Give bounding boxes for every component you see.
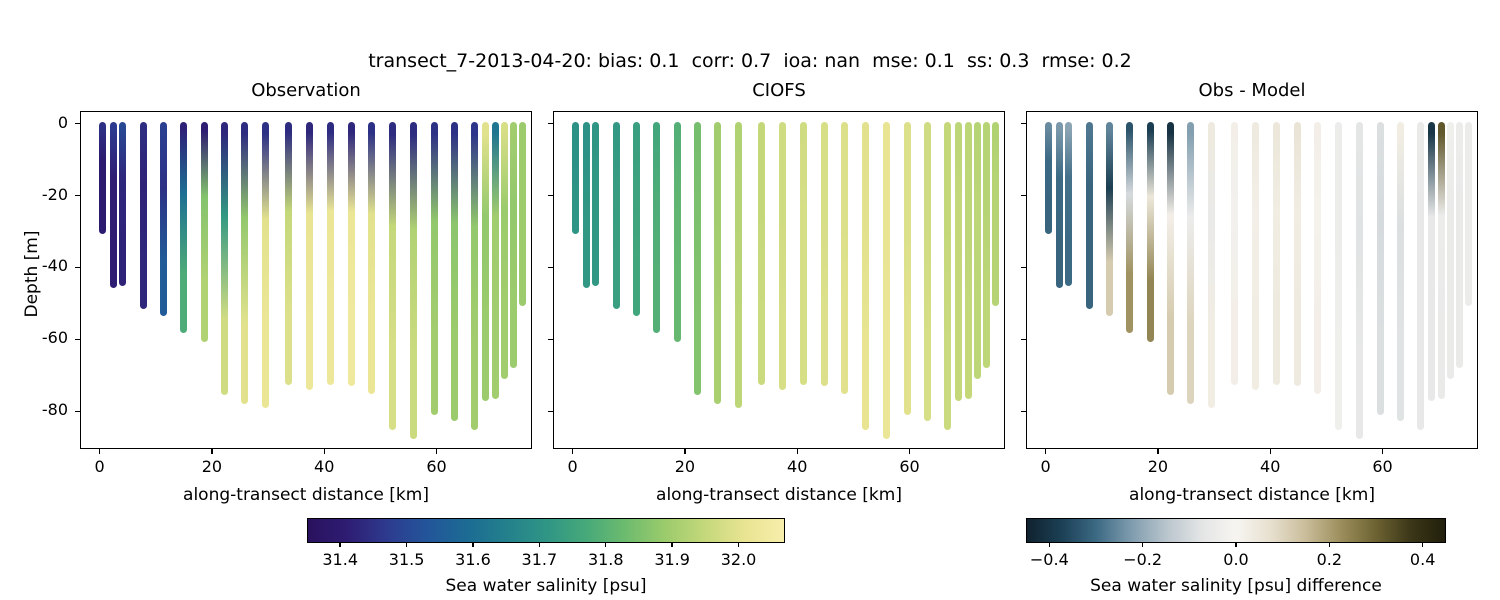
cast-profile xyxy=(924,122,931,421)
y-tick-mark xyxy=(1021,411,1026,412)
colorbar-tick-label: 0.0 xyxy=(1196,550,1276,569)
cast-profile xyxy=(306,122,313,390)
y-tick-mark xyxy=(1021,339,1026,340)
cast-profile xyxy=(160,122,167,317)
cast-profile xyxy=(1147,122,1154,342)
cast-profile xyxy=(1106,122,1113,317)
x-tick-label: 40 xyxy=(767,457,827,476)
y-tick-mark xyxy=(1021,123,1026,124)
y-tick-mark xyxy=(548,123,553,124)
y-tick-mark xyxy=(548,195,553,196)
cast-profile xyxy=(572,122,579,234)
colorbar-tick-mark xyxy=(539,543,540,547)
cast-profile xyxy=(758,122,765,385)
colorbar-tick-label: −0.4 xyxy=(1009,550,1089,569)
cast-profile xyxy=(1056,122,1063,288)
cast-profile xyxy=(779,122,786,390)
colorbar-label-difference: Sea water salinity [psu] difference xyxy=(966,576,1500,596)
x-tick-label: 40 xyxy=(294,457,354,476)
y-tick-label: -20 xyxy=(6,185,68,204)
cast-profile xyxy=(965,122,972,399)
x-tick-label: 0 xyxy=(1016,457,1076,476)
colorbar-tick-mark xyxy=(1235,543,1236,547)
x-tick-mark xyxy=(797,449,798,454)
cast-profile xyxy=(1447,122,1454,380)
cast-profile xyxy=(1314,122,1321,394)
cast-profile xyxy=(944,122,951,430)
cast-profile xyxy=(992,122,999,306)
cast-profile xyxy=(1397,122,1404,421)
x-tick-label: 20 xyxy=(182,457,242,476)
x-tick-mark xyxy=(436,449,437,454)
plot-axes-3 xyxy=(1026,111,1478,449)
cast-profile xyxy=(883,122,890,439)
cast-profile xyxy=(348,122,355,387)
x-tick-label: 60 xyxy=(1353,457,1413,476)
y-tick-mark xyxy=(548,411,553,412)
x-axis-label-1: along-transect distance [km] xyxy=(80,485,532,505)
y-tick-mark xyxy=(548,267,553,268)
x-tick-label: 0 xyxy=(70,457,130,476)
cast-profile xyxy=(1294,122,1301,387)
cast-profile xyxy=(262,122,269,408)
cast-profile xyxy=(1252,122,1259,390)
cast-profile xyxy=(862,122,869,430)
cast-profile xyxy=(674,122,681,342)
cast-profile xyxy=(368,122,375,394)
cast-profile xyxy=(241,122,248,405)
x-tick-mark xyxy=(909,449,910,454)
cast-profile xyxy=(1086,122,1093,310)
cast-profile xyxy=(451,122,458,421)
x-tick-label: 40 xyxy=(1240,457,1300,476)
plot-axes-1 xyxy=(80,111,532,449)
cast-profile xyxy=(1187,122,1194,405)
x-tick-mark xyxy=(1382,449,1383,454)
cast-profile xyxy=(510,122,517,369)
colorbar-tick-mark xyxy=(1142,543,1143,547)
y-tick-mark xyxy=(75,411,80,412)
panel-title-2: CIOFS xyxy=(553,80,1005,101)
cast-profile xyxy=(974,122,981,380)
cast-profile xyxy=(904,122,911,416)
y-tick-mark xyxy=(75,123,80,124)
y-tick-mark xyxy=(1021,267,1026,268)
cast-profile xyxy=(1335,122,1342,430)
colorbar-tick-mark xyxy=(605,543,606,547)
y-tick-label: -60 xyxy=(6,328,68,347)
cast-profile xyxy=(613,122,620,310)
colorbar-salinity xyxy=(307,518,785,543)
x-tick-mark xyxy=(324,449,325,454)
x-tick-label: 20 xyxy=(655,457,715,476)
x-tick-mark xyxy=(1270,449,1271,454)
cast-profile xyxy=(955,122,962,401)
cast-profile xyxy=(735,122,742,408)
panel-title-3: Obs - Model xyxy=(1026,80,1478,101)
x-tick-mark xyxy=(1157,449,1158,454)
figure-canvas: transect_7-2013-04-20: bias: 0.1 corr: 0… xyxy=(0,0,1500,600)
cast-profile xyxy=(694,122,701,396)
x-tick-mark xyxy=(211,449,212,454)
x-tick-mark xyxy=(99,449,100,454)
x-tick-label: 0 xyxy=(543,457,603,476)
y-tick-mark xyxy=(75,339,80,340)
cast-profile xyxy=(583,122,590,288)
cast-profile xyxy=(1208,122,1215,408)
cast-profile xyxy=(1428,122,1435,401)
colorbar-difference xyxy=(1026,518,1446,543)
cast-profile xyxy=(821,122,828,387)
cast-profile xyxy=(492,122,499,399)
cast-profile xyxy=(1438,122,1445,399)
cast-profile xyxy=(471,122,478,430)
colorbar-tick-label: −0.2 xyxy=(1103,550,1183,569)
cast-profile xyxy=(1273,122,1280,385)
cast-profile xyxy=(841,122,848,394)
y-tick-mark xyxy=(548,339,553,340)
colorbar-tick-mark xyxy=(472,543,473,547)
cast-profile xyxy=(1356,122,1363,439)
cast-profile xyxy=(1065,122,1072,286)
colorbar-label-salinity: Sea water salinity [psu] xyxy=(247,576,845,596)
x-tick-label: 20 xyxy=(1128,457,1188,476)
x-tick-label: 60 xyxy=(407,457,467,476)
cast-profile xyxy=(1417,122,1424,430)
panel-title-1: Observation xyxy=(80,80,532,101)
cast-profile xyxy=(180,122,187,333)
cast-profile xyxy=(501,122,508,380)
cast-profile xyxy=(1045,122,1052,234)
colorbar-tick-mark xyxy=(1329,543,1330,547)
x-tick-mark xyxy=(684,449,685,454)
x-tick-mark xyxy=(572,449,573,454)
cast-profile xyxy=(140,122,147,310)
y-tick-label: -40 xyxy=(6,256,68,275)
cast-profile xyxy=(519,122,526,306)
colorbar-tick-mark xyxy=(406,543,407,547)
cast-profile xyxy=(983,122,990,369)
x-axis-label-3: along-transect distance [km] xyxy=(1026,485,1478,505)
cast-profile xyxy=(714,122,721,405)
colorbar-tick-mark xyxy=(1049,543,1050,547)
cast-profile xyxy=(99,122,106,234)
cast-profile xyxy=(592,122,599,286)
x-tick-label: 60 xyxy=(880,457,940,476)
colorbar-tick-mark xyxy=(671,543,672,547)
cast-profile xyxy=(653,122,660,333)
cast-profile xyxy=(410,122,417,439)
plot-axes-2 xyxy=(553,111,1005,449)
cast-profile xyxy=(1126,122,1133,333)
y-tick-mark xyxy=(75,267,80,268)
cast-profile xyxy=(1231,122,1238,385)
cast-profile xyxy=(1465,122,1472,306)
y-tick-label: -80 xyxy=(6,400,68,419)
cast-profile xyxy=(633,122,640,317)
cast-profile xyxy=(285,122,292,385)
colorbar-tick-label: 0.2 xyxy=(1289,550,1369,569)
cast-profile xyxy=(327,122,334,385)
colorbar-tick-mark xyxy=(339,543,340,547)
cast-profile xyxy=(389,122,396,430)
colorbar-tick-label: 32.0 xyxy=(699,550,779,569)
colorbar-tick-mark xyxy=(1422,543,1423,547)
cast-profile xyxy=(482,122,489,401)
colorbar-tick-label: 0.4 xyxy=(1383,550,1463,569)
cast-profile xyxy=(800,122,807,385)
colorbar-tick-mark xyxy=(738,543,739,547)
cast-profile xyxy=(110,122,117,288)
cast-profile xyxy=(221,122,228,396)
cast-profile xyxy=(431,122,438,416)
y-tick-label: 0 xyxy=(6,113,68,132)
title-line-stats: transect_7-2013-04-20: bias: 0.1 corr: 0… xyxy=(0,50,1500,73)
y-tick-mark xyxy=(75,195,80,196)
cast-profile xyxy=(1456,122,1463,369)
x-tick-mark xyxy=(1045,449,1046,454)
y-tick-mark xyxy=(1021,195,1026,196)
cast-profile xyxy=(119,122,126,286)
cast-profile xyxy=(1377,122,1384,416)
cast-profile xyxy=(1167,122,1174,396)
cast-profile xyxy=(201,122,208,342)
x-axis-label-2: along-transect distance [km] xyxy=(553,485,1005,505)
